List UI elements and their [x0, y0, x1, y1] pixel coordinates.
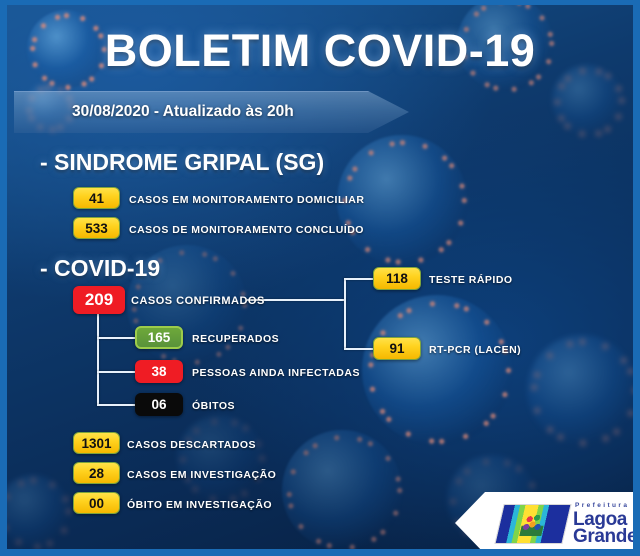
badge-value: 118 [386, 271, 408, 286]
label-obitos: ÓBITOS [192, 400, 235, 412]
label-casos-em-investigacao: CASOS EM INVESTIGAÇÃO [127, 469, 276, 481]
virus-particle-icon [7, 475, 69, 547]
badge-value: 209 [85, 290, 113, 310]
label-teste-rapido: TESTE RÁPIDO [429, 274, 513, 286]
connector-line-to-teste-rapido [344, 278, 373, 280]
label-obito-em-investigacao: ÓBITO EM INVESTIGAÇÃO [127, 499, 272, 511]
connector-line-to-rtpcr [344, 348, 373, 350]
virus-particle-icon [177, 415, 263, 501]
label-sg-monitoramento-domiciliar: CASOS EM MONITORAMENTO DOMICILIAR [129, 194, 364, 206]
badge-value: 00 [89, 496, 104, 511]
label-recuperados: RECUPERADOS [192, 333, 279, 345]
covid-bulletin-poster: BOLETIM COVID-19 30/08/2020 - Atualizado… [0, 0, 640, 556]
label-sg-monitoramento-concluido: CASOS DE MONITORAMENTO CONCLUÍDO [129, 224, 364, 236]
badge-sg-monitoramento-domiciliar: 41 [73, 187, 120, 209]
virus-particle-icon [527, 335, 633, 445]
connector-line-breakdown-trunk [97, 310, 99, 406]
coat-of-arms-icon [519, 512, 547, 536]
date-banner-text: 30/08/2020 - Atualizado às 20h [72, 103, 294, 121]
logo-name-line2: Grande [573, 527, 633, 546]
prefeitura-logo: Prefeitura Lagoa Grande [455, 492, 633, 549]
section-heading-sindrome-gripal: - SINDROME GRIPAL (SG) [40, 149, 324, 176]
connector-line-to-obitos [97, 404, 135, 406]
flag-icon [494, 504, 571, 544]
badge-recuperados: 165 [135, 326, 183, 349]
badge-value: 165 [148, 330, 171, 345]
poster-inner-frame: BOLETIM COVID-19 30/08/2020 - Atualizado… [7, 5, 633, 549]
badge-value: 06 [151, 397, 166, 412]
label-rtpcr-lacen: RT-PCR (LACEN) [429, 344, 521, 356]
badge-casos-em-investigacao: 28 [73, 462, 120, 484]
label-casos-descartados: CASOS DESCARTADOS [127, 439, 256, 451]
connector-line-to-infectadas [97, 371, 135, 373]
badge-teste-rapido: 118 [373, 267, 421, 290]
badge-pessoas-ainda-infectadas: 38 [135, 360, 183, 383]
badge-value: 533 [85, 221, 108, 236]
badge-value: 41 [89, 191, 104, 206]
badge-rtpcr-lacen: 91 [373, 337, 421, 360]
label-pessoas-ainda-infectadas: PESSOAS AINDA INFECTADAS [192, 367, 360, 379]
section-heading-covid19: - COVID-19 [40, 255, 160, 282]
logo-prefecture-label: Prefeitura [575, 502, 629, 509]
badge-value: 28 [89, 466, 104, 481]
badge-obito-em-investigacao: 00 [73, 492, 120, 514]
virus-particle-icon [362, 295, 512, 445]
badge-sg-monitoramento-concluido: 533 [73, 217, 120, 239]
badge-casos-confirmados: 209 [73, 286, 125, 314]
badge-casos-descartados: 1301 [73, 432, 120, 454]
label-casos-confirmados: CASOS CONFIRMADOS [131, 295, 265, 307]
badge-obitos: 06 [135, 393, 183, 416]
badge-value: 91 [389, 341, 404, 356]
date-banner: 30/08/2020 - Atualizado às 20h [14, 91, 409, 133]
page-title: BOLETIM COVID-19 [7, 25, 633, 77]
connector-line-to-recuperados [97, 337, 135, 339]
badge-value: 1301 [81, 436, 111, 451]
connector-line-tests-trunk [344, 278, 346, 350]
virus-particle-icon [282, 430, 402, 549]
badge-value: 38 [151, 364, 166, 379]
